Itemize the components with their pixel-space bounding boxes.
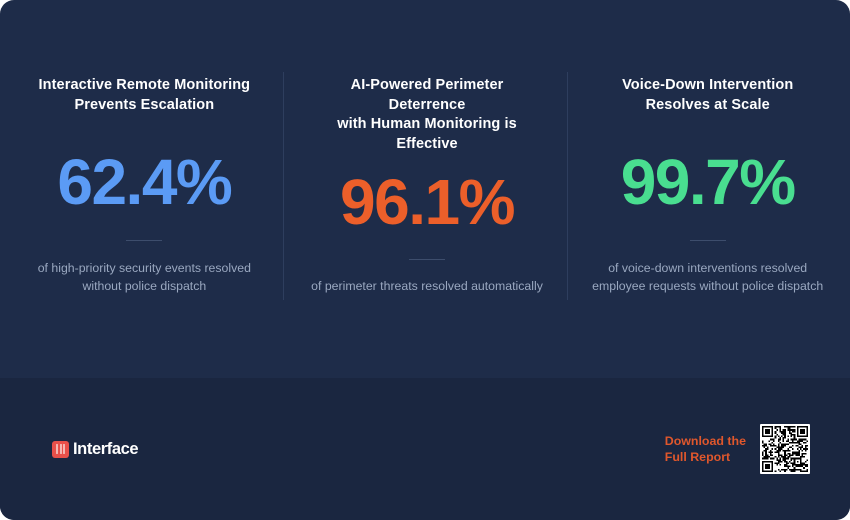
stat-rule [409, 259, 445, 262]
stat-value: 62.4% [57, 150, 231, 214]
stat-title: Voice-Down Intervention Resolves at Scal… [591, 76, 824, 115]
stat-panel-perimeter-deterrence: AI-Powered Perimeter Deterrence with Hum… [289, 0, 566, 296]
stat-panel-voice-down: Voice-Down Intervention Resolves at Scal… [565, 0, 850, 295]
stat-panel-remote-monitoring: Interactive Remote Monitoring Prevents E… [0, 0, 289, 295]
qr-code-icon[interactable] [760, 424, 810, 474]
bars-square-icon [52, 441, 69, 458]
stat-rule [690, 240, 726, 243]
stat-title: Interactive Remote Monitoring Prevents E… [28, 76, 261, 115]
brand-logo: Interface [52, 440, 138, 459]
stats-area: Interactive Remote Monitoring Prevents E… [0, 0, 850, 378]
brand-name: Interface [73, 440, 138, 459]
stat-caption: of voice-down interventions resolved emp… [591, 260, 824, 295]
stat-value: 99.7% [621, 150, 795, 214]
stat-caption: of high-priority security events resolve… [28, 260, 261, 295]
download-report-label[interactable]: Download the Full Report [665, 433, 746, 466]
stat-rule [126, 240, 162, 243]
download-report-cta[interactable]: Download the Full Report [665, 424, 810, 474]
stat-title: AI-Powered Perimeter Deterrence with Hum… [311, 76, 544, 154]
stats-report-card: Interactive Remote Monitoring Prevents E… [0, 0, 850, 520]
stat-value: 96.1% [340, 170, 514, 234]
footer-bar: Interface Download the Full Report [0, 378, 850, 520]
stat-caption: of perimeter threats resolved automatica… [311, 278, 543, 296]
